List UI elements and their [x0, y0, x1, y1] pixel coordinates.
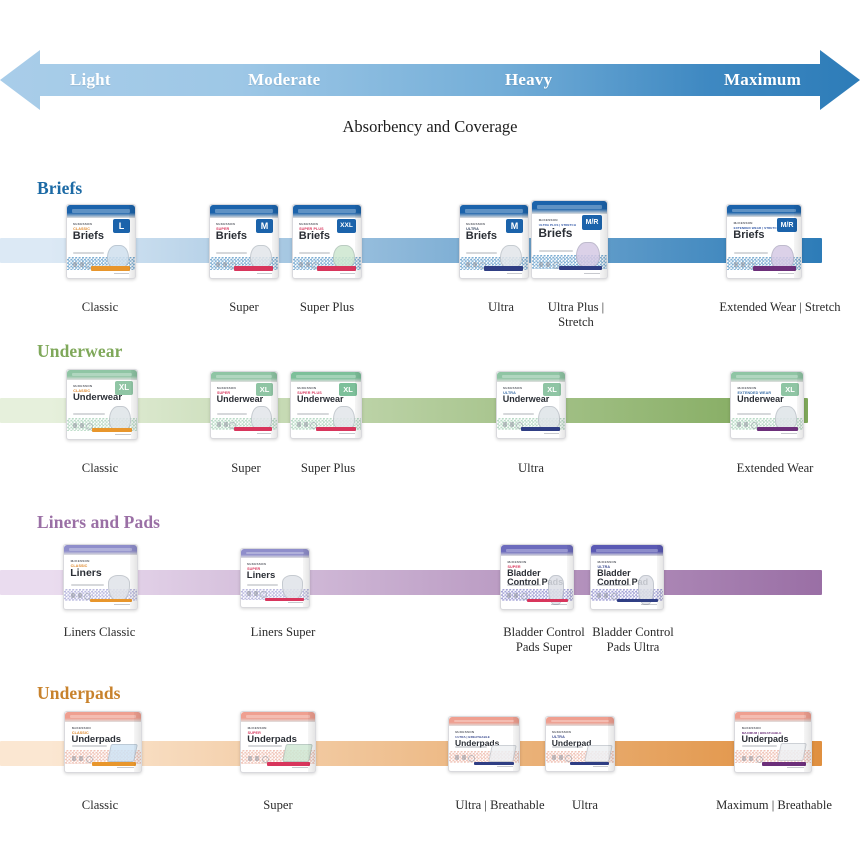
feature-icon — [507, 593, 511, 598]
scale-label-light: Light — [70, 70, 111, 90]
package-product-name: Briefs — [299, 231, 330, 242]
brand-wordmark: McKESSON — [552, 730, 571, 734]
package-product-name: Underwear — [297, 395, 344, 404]
package-product-name: Briefs — [73, 231, 104, 242]
package-feature-icons — [503, 422, 514, 427]
package-side-shading — [600, 201, 607, 278]
package-side-shading — [608, 717, 614, 771]
package-fine-print — [339, 433, 354, 435]
product-caption: Super Plus — [285, 300, 369, 315]
package-lid-highlight — [465, 209, 523, 212]
package-tier-stripe — [617, 599, 658, 603]
package-tier-stripe — [92, 428, 132, 432]
package-fine-print — [507, 273, 522, 275]
package-product-illustration — [576, 242, 600, 268]
scale-label-list: Light Moderate Heavy Maximum — [0, 48, 860, 112]
feature-icon — [559, 755, 563, 760]
scale-label-maximum: Maximum — [724, 70, 801, 90]
package-side-shading — [794, 205, 801, 278]
product-package[interactable]: McKESSONMAXIMUM | BREATHABLEUnderpads — [734, 711, 812, 773]
axis-caption: Absorbency and Coverage — [0, 117, 860, 137]
package-lid-highlight — [736, 375, 798, 378]
feature-icon — [248, 756, 252, 761]
package-feature-icons — [71, 593, 82, 598]
package-lid — [65, 712, 141, 722]
feature-icon — [473, 262, 477, 267]
package-feature-icons — [466, 262, 477, 267]
feature-icon — [741, 262, 745, 267]
package-fine-print — [778, 273, 794, 275]
package-side-shading — [272, 205, 278, 278]
package-lid — [546, 717, 614, 726]
package-fine-print — [114, 604, 130, 606]
product-package[interactable]: McKESSONSUPERUnderpads — [240, 711, 316, 773]
package-feature-icons — [552, 755, 563, 760]
package-tagline-rule — [539, 250, 574, 252]
brand-wordmark: McKESSON — [297, 386, 316, 390]
package-tier-stripe — [316, 427, 356, 431]
package-lid-highlight — [537, 205, 602, 208]
feature-icon — [217, 422, 221, 427]
package-feature-icons — [216, 262, 227, 267]
package-tier-stripe — [234, 427, 272, 431]
package-tagline-rule — [742, 745, 777, 747]
package-lid — [64, 545, 137, 555]
package-feature-icons — [299, 262, 310, 267]
package-fine-print — [117, 767, 134, 769]
feature-icon — [503, 422, 507, 427]
feature-icon — [462, 755, 466, 760]
package-lid-highlight — [454, 720, 514, 722]
product-caption: Classic — [58, 798, 142, 813]
feature-icon — [79, 756, 83, 761]
package-feature-icons — [73, 262, 84, 267]
product-caption: Super — [202, 300, 286, 315]
package-size-badge: M — [506, 219, 523, 233]
package-side-shading — [567, 545, 573, 609]
package-size-badge: L — [113, 219, 130, 233]
package-tier-stripe — [521, 427, 560, 431]
feature-icon — [514, 593, 518, 598]
package-feature-icons — [742, 756, 753, 761]
brand-wordmark: McKESSON — [247, 562, 266, 566]
feature-icon — [299, 262, 303, 267]
package-side-shading — [129, 205, 135, 278]
product-caption: Liners Classic — [42, 625, 157, 640]
package-lid-highlight — [69, 548, 132, 551]
package-size-badge: XXL — [337, 219, 356, 233]
package-side-shading — [130, 545, 137, 609]
package-fine-print — [292, 767, 308, 769]
package-tier-stripe — [90, 599, 132, 603]
feature-icon — [71, 593, 75, 598]
product-caption: Super — [204, 461, 288, 476]
package-lid-highlight — [298, 209, 356, 212]
package-side-shading — [513, 717, 519, 771]
package-tagline-rule — [72, 745, 107, 747]
package-count-badge — [260, 591, 267, 598]
package-side-shading — [797, 372, 803, 438]
brand-wordmark: McKESSON — [72, 726, 91, 730]
package-fine-print — [641, 604, 657, 606]
package-lid-highlight — [596, 549, 658, 552]
package-tier-stripe — [762, 762, 806, 766]
package-product-illustration — [777, 743, 807, 761]
section-briefs: BriefsMcKESSONCLASSICBriefsLClassicMcKES… — [0, 178, 860, 348]
package-tier-stripe — [92, 762, 136, 766]
product-package[interactable]: McKESSONSUPER PLUSBriefsXXL — [292, 204, 362, 279]
feature-icon — [539, 262, 543, 267]
package-feature-icons — [73, 423, 84, 428]
product-caption: Ultra — [543, 798, 627, 813]
product-caption: Extended Wear — [720, 461, 830, 476]
product-caption: Maximum | Breathable — [700, 798, 848, 813]
package-product-name: Briefs — [216, 231, 247, 242]
package-fine-print — [551, 604, 567, 606]
product-package[interactable]: McKESSONEXTENDED WEAR | STRETCHBriefsM/R — [726, 204, 802, 279]
package-feature-icons — [597, 593, 608, 598]
package-lid — [591, 545, 663, 556]
brand-wordmark: McKESSON — [466, 222, 485, 226]
package-lid — [532, 201, 607, 214]
package-lid-highlight — [246, 552, 304, 554]
package-side-shading — [131, 370, 137, 439]
product-package[interactable]: McKESSONCLASSICUnderwearXL — [66, 369, 138, 440]
feature-icon — [72, 756, 76, 761]
package-tagline-rule — [552, 746, 583, 748]
package-side-shading — [559, 372, 565, 438]
product-package[interactable]: McKESSONULTRABriefsM — [459, 204, 529, 279]
feature-icon — [73, 423, 77, 428]
package-side-shading — [308, 712, 315, 772]
product-caption: Ultra — [489, 461, 573, 476]
product-package[interactable]: McKESSONEXTENDED WEARUnderwearXL — [730, 371, 804, 439]
package-fine-print — [257, 433, 272, 435]
brand-wordmark: McKESSON — [737, 386, 756, 390]
package-fine-print — [787, 767, 804, 769]
product-package[interactable]: McKESSONSUPERBriefsM — [209, 204, 279, 279]
package-tier-stripe — [527, 599, 568, 603]
package-product-name: Briefs — [733, 230, 764, 241]
package-lid — [497, 372, 565, 382]
package-lid-highlight — [216, 375, 273, 378]
package-side-shading — [804, 712, 811, 772]
package-tagline-rule — [299, 252, 330, 254]
package-product-illustration — [108, 575, 130, 601]
feature-icon — [223, 262, 227, 267]
package-side-shading — [355, 372, 361, 438]
feature-icon — [80, 423, 84, 428]
package-lid-highlight — [215, 209, 273, 212]
feature-icon — [742, 756, 746, 761]
product-package[interactable]: McKESSONULTRAUnderpad — [545, 716, 615, 772]
brand-wordmark: McKESSON — [539, 218, 558, 222]
package-lid-highlight — [246, 715, 310, 718]
feature-icon — [744, 422, 748, 427]
brand-wordmark: McKESSON — [216, 222, 235, 226]
product-package[interactable]: McKESSONSUPERLiners — [240, 548, 310, 608]
package-size-badge: M/R — [582, 215, 602, 230]
package-feature-icons — [217, 422, 228, 427]
package-feature-icons — [72, 756, 83, 761]
package-tagline-rule — [71, 584, 105, 586]
section-title-liners-and-pads: Liners and Pads — [37, 512, 160, 533]
package-tagline-rule — [507, 584, 540, 586]
package-product-name: Briefs — [466, 231, 497, 242]
package-lid — [67, 205, 135, 218]
product-caption: Super — [236, 798, 320, 813]
package-fine-print — [497, 766, 512, 768]
product-package[interactable]: McKESSONCLASSICLiners — [63, 544, 138, 610]
feature-icon — [306, 262, 310, 267]
feature-icon — [80, 262, 84, 267]
package-tier-stripe — [267, 762, 310, 766]
package-fine-print — [288, 602, 303, 604]
package-tagline-rule — [216, 252, 247, 254]
package-lid — [241, 549, 309, 558]
package-tagline-rule — [597, 584, 630, 586]
product-package[interactable]: McKESSONULTRAUnderwearXL — [496, 371, 566, 439]
absorbency-comparison-chart: Light Moderate Heavy Maximum Absorbency … — [0, 0, 860, 860]
brand-wordmark: McKESSON — [71, 559, 90, 563]
feature-icon — [737, 422, 741, 427]
feature-icon — [546, 262, 550, 267]
package-feature-icons — [539, 262, 550, 267]
package-count-badge — [565, 755, 572, 762]
product-package[interactable]: McKESSONCLASSICUnderpads — [64, 711, 142, 773]
package-tier-stripe — [757, 427, 798, 431]
brand-wordmark: McKESSON — [73, 222, 92, 226]
feature-icon — [304, 422, 308, 427]
brand-wordmark: McKESSON — [503, 386, 522, 390]
package-side-shading — [134, 712, 141, 772]
package-tagline-rule — [466, 252, 497, 254]
package-lid-highlight — [72, 209, 130, 212]
package-fine-print — [593, 766, 608, 768]
package-lid — [67, 370, 137, 380]
package-lid-highlight — [732, 209, 796, 212]
feature-icon — [247, 591, 251, 596]
feature-icon — [455, 755, 459, 760]
section-title-briefs: Briefs — [37, 178, 82, 199]
absorbency-scale-arrow: Light Moderate Heavy Maximum — [0, 48, 860, 112]
package-fine-print — [257, 273, 272, 275]
feature-icon — [78, 593, 82, 598]
feature-icon — [604, 593, 608, 598]
package-product-name: Liners — [247, 571, 276, 581]
package-tier-stripe — [234, 266, 273, 270]
product-package[interactable]: McKESSONSUPERUnderwearXL — [210, 371, 278, 439]
package-feature-icons — [737, 422, 748, 427]
brand-wordmark: McKESSON — [742, 726, 761, 730]
package-fine-print — [544, 433, 559, 435]
package-lid — [211, 372, 277, 382]
package-lid — [501, 545, 573, 556]
product-caption: Extended Wear | Stretch — [700, 300, 860, 315]
package-lid-highlight — [70, 715, 135, 718]
brand-wordmark: McKESSON — [248, 726, 267, 730]
package-side-shading — [522, 205, 528, 278]
brand-wordmark: McKESSON — [734, 221, 753, 225]
package-tier-stripe — [265, 598, 304, 601]
package-fine-print — [781, 433, 797, 435]
package-tier-stripe — [317, 266, 356, 270]
package-tagline-rule — [734, 252, 768, 254]
package-tagline-rule — [737, 413, 770, 415]
brand-wordmark: McKESSON — [597, 560, 616, 564]
product-package[interactable]: McKESSONSUPER PLUSUnderwearXL — [290, 371, 362, 439]
package-lid — [291, 372, 361, 382]
package-tagline-rule — [73, 252, 104, 254]
feature-icon — [510, 422, 514, 427]
package-lid — [449, 717, 519, 726]
package-feature-icons — [455, 755, 466, 760]
brand-wordmark: McKESSON — [455, 730, 474, 734]
package-feature-icons — [248, 756, 259, 761]
feature-icon — [552, 755, 556, 760]
package-tagline-rule — [248, 745, 282, 747]
package-product-name: Underwear — [503, 395, 550, 404]
product-caption: Classic — [58, 461, 142, 476]
package-tagline-rule — [503, 413, 534, 415]
product-package[interactable]: McKESSONCLASSICBriefsL — [66, 204, 136, 279]
feature-icon — [73, 262, 77, 267]
package-lid — [727, 205, 801, 217]
product-caption: Bladder Control Pads Ultra — [578, 625, 688, 656]
package-fine-print — [115, 434, 130, 436]
product-package[interactable]: McKESSONULTRA PLUS | STRETCHBriefsM/R — [531, 200, 608, 279]
scale-label-moderate: Moderate — [248, 70, 320, 90]
brand-wordmark: McKESSON — [73, 384, 92, 388]
package-lid — [293, 205, 361, 218]
package-lid — [731, 372, 803, 382]
feature-icon — [734, 262, 738, 267]
package-feature-icons — [247, 591, 258, 596]
package-tier-stripe — [484, 266, 523, 270]
feature-icon — [255, 756, 259, 761]
product-caption: Ultra Plus | Stretch — [530, 300, 622, 331]
brand-wordmark: McKESSON — [507, 560, 526, 564]
package-fine-print — [584, 273, 601, 275]
package-side-shading — [271, 372, 277, 438]
package-feature-icons — [734, 262, 745, 267]
package-tagline-rule — [217, 413, 247, 415]
scale-label-heavy: Heavy — [505, 70, 552, 90]
section-title-underpads: Underpads — [37, 683, 121, 704]
package-lid-highlight — [296, 375, 356, 378]
package-tagline-rule — [297, 413, 329, 415]
feature-icon — [597, 593, 601, 598]
section-liners-and-pads: Liners and PadsMcKESSONCLASSICLinersLine… — [0, 512, 860, 682]
section-underpads: UnderpadsMcKESSONCLASSICUnderpadsClassic… — [0, 683, 860, 853]
package-lid-highlight — [72, 373, 132, 376]
product-package[interactable]: McKESSONULTRABladder Control Pad — [590, 544, 664, 610]
package-lid-highlight — [740, 715, 805, 718]
package-tagline-rule — [455, 746, 487, 748]
product-caption: Liners Super — [228, 625, 338, 640]
package-size-badge: M — [256, 219, 273, 233]
feature-icon — [224, 422, 228, 427]
package-feature-icons — [297, 422, 308, 427]
feature-icon — [466, 262, 470, 267]
package-lid — [735, 712, 811, 722]
brand-wordmark: McKESSON — [217, 386, 236, 390]
package-tier-stripe — [753, 266, 796, 270]
feature-icon — [297, 422, 301, 427]
product-package[interactable]: McKESSONULTRA | BREATHABLEUnderpads — [448, 716, 520, 772]
package-tier-stripe — [559, 266, 602, 271]
package-fine-print — [114, 273, 129, 275]
product-package[interactable]: McKESSONSUPERBladder Control Pads — [500, 544, 574, 610]
package-product-illustration — [282, 575, 303, 600]
feature-icon — [216, 262, 220, 267]
feature-icon — [749, 756, 753, 761]
brand-wordmark: McKESSON — [299, 222, 318, 226]
package-fine-print — [340, 273, 355, 275]
package-product-name: Liners — [70, 568, 102, 579]
package-lid — [210, 205, 278, 218]
package-tagline-rule — [73, 413, 105, 415]
package-product-name: Briefs — [538, 227, 572, 239]
package-product-name: Underwear — [737, 395, 784, 404]
package-side-shading — [355, 205, 361, 278]
product-caption: Classic — [58, 300, 142, 315]
package-tagline-rule — [247, 584, 278, 586]
section-title-underwear: Underwear — [37, 341, 122, 362]
package-feature-icons — [507, 593, 518, 598]
package-lid-highlight — [551, 720, 609, 722]
package-lid — [241, 712, 315, 722]
package-lid — [460, 205, 528, 218]
package-lid-highlight — [506, 549, 568, 552]
product-caption: Super Plus — [286, 461, 370, 476]
package-tier-stripe — [91, 266, 130, 270]
package-product-name: Underwear — [217, 395, 264, 404]
package-side-shading — [303, 549, 309, 607]
package-side-shading — [657, 545, 663, 609]
section-underwear: UnderwearMcKESSONCLASSICUnderwearXLClass… — [0, 341, 860, 511]
feature-icon — [254, 591, 258, 596]
package-lid-highlight — [502, 375, 560, 378]
